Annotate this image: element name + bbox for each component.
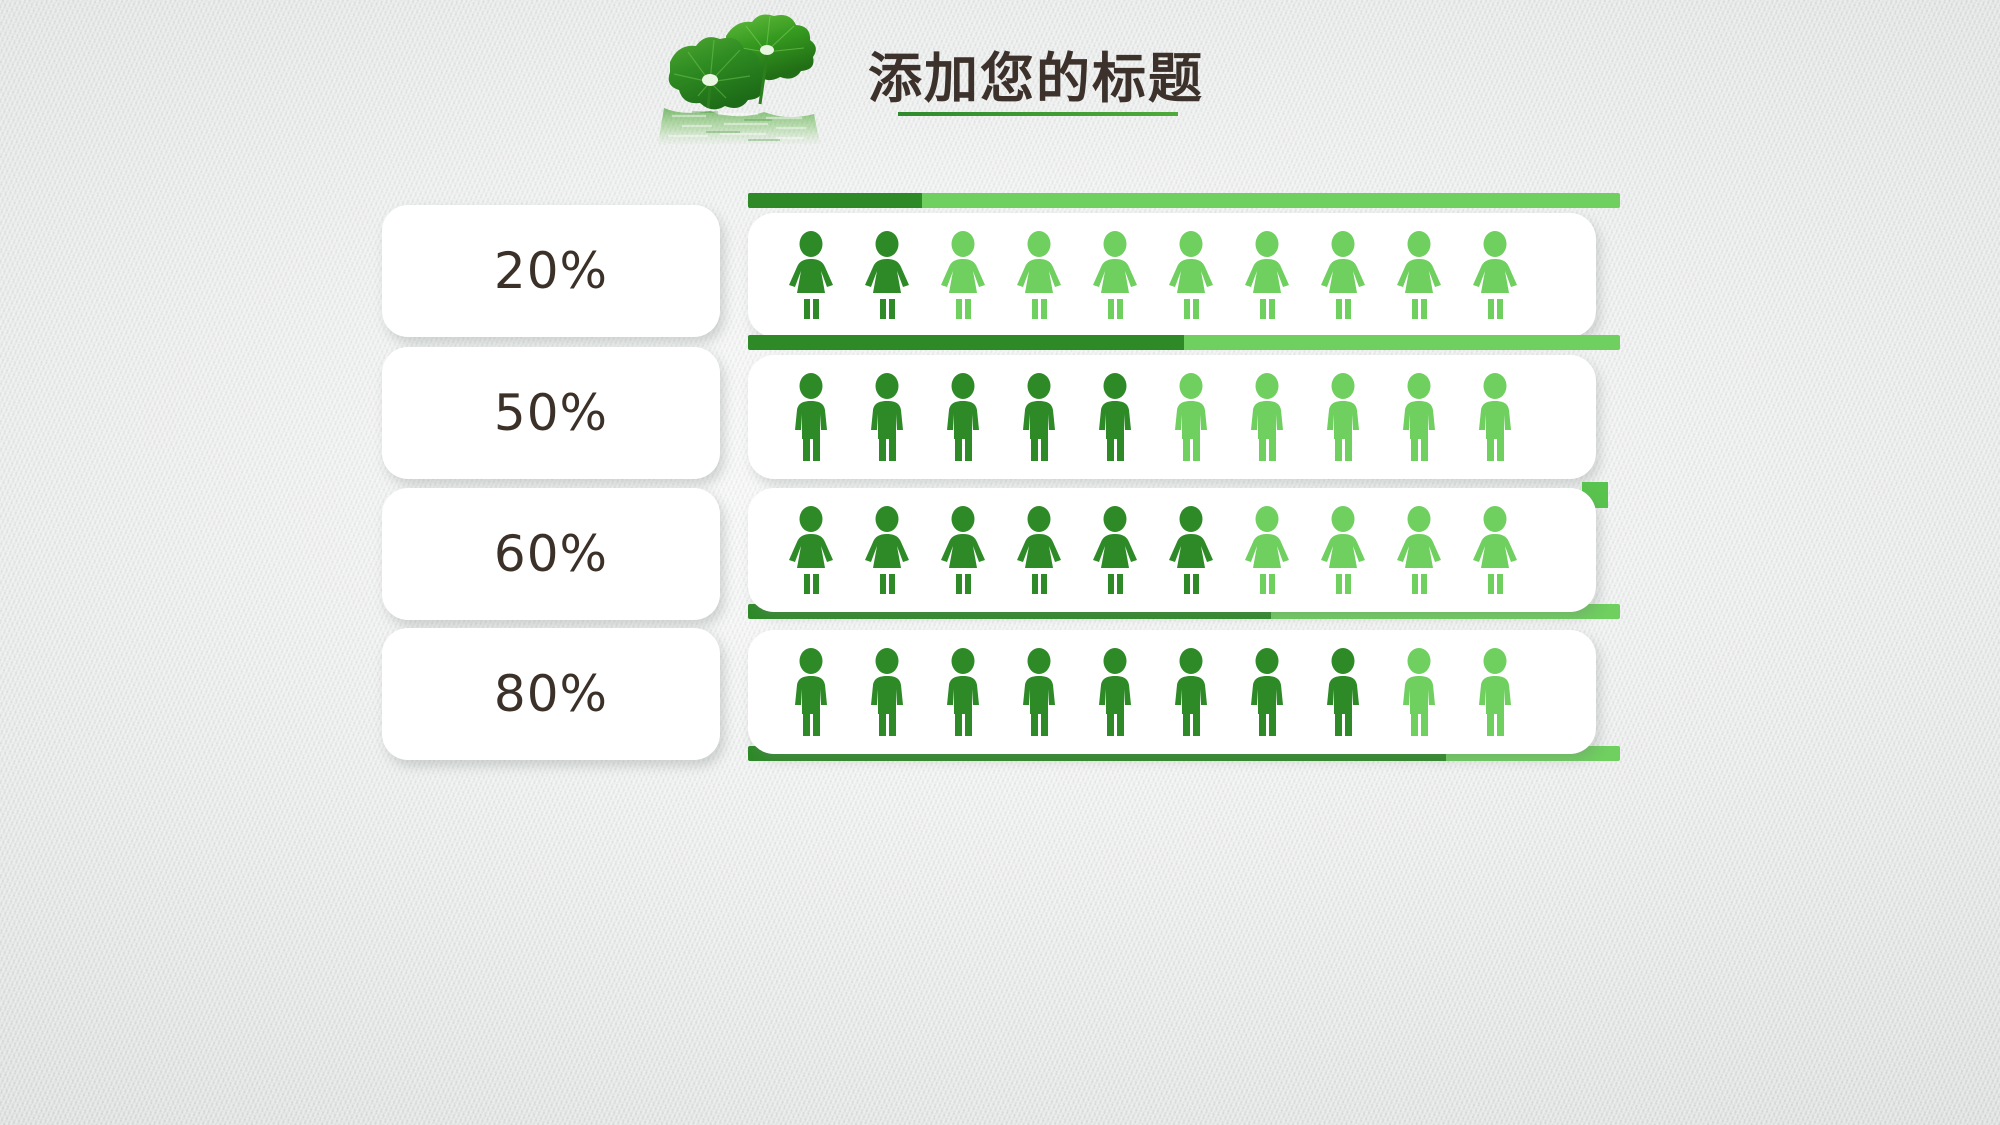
pictogram-panel	[748, 195, 1628, 355]
female-figure-icon	[1236, 506, 1298, 594]
figure-card	[748, 213, 1596, 337]
female-figure-icon	[856, 506, 918, 594]
percentage-label-card[interactable]: 20%	[382, 205, 720, 337]
male-figure-icon	[1160, 648, 1222, 736]
female-figure-icon	[1388, 231, 1450, 319]
male-figure-icon	[856, 373, 918, 461]
male-figure-icon	[932, 648, 994, 736]
female-figure-icon	[780, 506, 842, 594]
male-figure-icon	[1312, 373, 1374, 461]
pictogram-panel	[748, 337, 1628, 497]
female-figure-icon	[932, 231, 994, 319]
percentage-label: 20%	[494, 242, 608, 300]
figure-card	[748, 630, 1596, 754]
female-figure-icon	[1464, 506, 1526, 594]
percentage-label: 80%	[494, 665, 608, 723]
slide-header: 添加您的标题	[0, 0, 2000, 150]
pictogram-panel	[748, 618, 1628, 778]
male-figure-icon	[1236, 373, 1298, 461]
percentage-label-card[interactable]: 50%	[382, 347, 720, 479]
female-figure-icon	[1008, 231, 1070, 319]
male-figure-icon	[1008, 648, 1070, 736]
male-figure-icon	[1236, 648, 1298, 736]
male-figure-icon	[1084, 648, 1146, 736]
male-figure-icon	[1388, 373, 1450, 461]
female-figure-icon	[1312, 231, 1374, 319]
female-figure-icon	[1160, 506, 1222, 594]
pictogram-row: 50%	[0, 337, 2000, 497]
female-figure-icon	[1236, 231, 1298, 319]
male-figure-icon	[932, 373, 994, 461]
male-figure-icon	[780, 648, 842, 736]
male-figure-icon	[1388, 648, 1450, 736]
male-figure-icon	[1464, 373, 1526, 461]
female-figure-icon	[1464, 231, 1526, 319]
percentage-label: 50%	[494, 384, 608, 442]
progress-accent-bar	[748, 335, 1620, 350]
percentage-label-card[interactable]: 80%	[382, 628, 720, 760]
progress-fill-light	[1184, 335, 1620, 350]
pictogram-row: 60%	[0, 478, 2000, 638]
progress-accent-bar	[748, 193, 1620, 208]
male-figure-icon	[856, 648, 918, 736]
figure-card	[748, 355, 1596, 479]
male-figure-icon	[1084, 373, 1146, 461]
pictogram-panel	[748, 478, 1628, 638]
male-figure-icon	[1160, 373, 1222, 461]
female-figure-icon	[1312, 506, 1374, 594]
male-figure-icon	[1312, 648, 1374, 736]
female-figure-icon	[780, 231, 842, 319]
female-figure-icon	[1008, 506, 1070, 594]
progress-fill-dark	[748, 193, 922, 208]
female-figure-icon	[856, 231, 918, 319]
page-title: 添加您的标题	[868, 34, 1204, 113]
figure-card	[748, 488, 1596, 612]
pictogram-row: 80%	[0, 618, 2000, 778]
male-figure-icon	[1464, 648, 1526, 736]
pictogram-row: 20%	[0, 195, 2000, 355]
lotus-leaf-icon	[648, 4, 858, 144]
female-figure-icon	[1084, 231, 1146, 319]
percentage-label: 60%	[494, 525, 608, 583]
female-figure-icon	[1388, 506, 1450, 594]
title-underline	[898, 112, 1178, 116]
female-figure-icon	[932, 506, 994, 594]
progress-fill-dark	[748, 335, 1184, 350]
male-figure-icon	[780, 373, 842, 461]
percentage-label-card[interactable]: 60%	[382, 488, 720, 620]
female-figure-icon	[1160, 231, 1222, 319]
progress-fill-light	[922, 193, 1620, 208]
male-figure-icon	[1008, 373, 1070, 461]
female-figure-icon	[1084, 506, 1146, 594]
